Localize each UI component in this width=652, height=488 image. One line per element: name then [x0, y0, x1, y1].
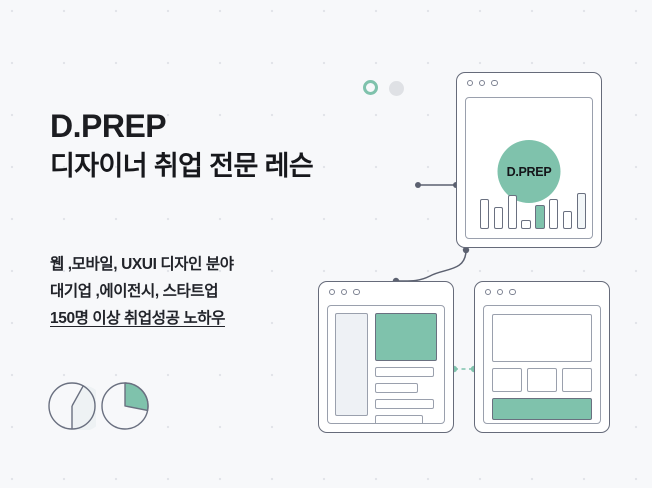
- highlight-bar: [50, 328, 225, 333]
- bar-5: [535, 205, 544, 229]
- hero-copy: D.PREP 디자이너 취업 전문 레슨: [50, 110, 420, 182]
- solid-dot-icon: [389, 81, 404, 96]
- browser-window-logo[interactable]: D.PREP: [456, 72, 602, 248]
- sub-line-2: 대기업 ,에이전시, 스타트업: [50, 279, 350, 306]
- window-titlebar: [319, 282, 453, 302]
- pie-chart-outline: [48, 382, 96, 430]
- bar-6: [549, 199, 558, 229]
- traffic-light-icon[interactable]: [509, 289, 515, 295]
- bar-3: [508, 195, 517, 229]
- bar-7: [563, 211, 572, 229]
- traffic-light-icon[interactable]: [497, 289, 503, 295]
- connector-headline-to-top-window: [415, 182, 459, 188]
- sub-line-3-text: 150명 이상 취업성공 노하우: [50, 310, 225, 327]
- traffic-light-icon[interactable]: [491, 80, 497, 86]
- traffic-light-icon[interactable]: [485, 289, 491, 295]
- traffic-light-icon[interactable]: [341, 289, 347, 295]
- bar-8: [577, 193, 586, 229]
- window-titlebar: [475, 282, 609, 302]
- brand-title: D.PREP: [50, 110, 420, 144]
- sidebar-panel[interactable]: [335, 313, 368, 416]
- traffic-light-icon[interactable]: [353, 289, 359, 295]
- browser-window-layout-b[interactable]: [474, 281, 610, 433]
- card-1[interactable]: [492, 368, 522, 392]
- bar-2: [494, 207, 503, 229]
- sub-line-1: 웹 ,모바일, UXUI 디자인 분야: [50, 252, 350, 279]
- window-content: D.PREP: [465, 97, 593, 239]
- poster-canvas: D.PREP 디자이너 취업 전문 레슨 웹 ,모바일, UXUI 디자인 분야…: [0, 0, 652, 488]
- card-3[interactable]: [562, 368, 592, 392]
- traffic-light-icon[interactable]: [479, 80, 485, 86]
- card-row: [492, 368, 592, 392]
- bar-4: [521, 220, 530, 229]
- window-content: [483, 305, 601, 424]
- traffic-light-icon[interactable]: [467, 80, 473, 86]
- content-bar-4: [375, 415, 423, 424]
- window-titlebar: [457, 73, 601, 93]
- bar-1: [480, 199, 489, 229]
- hero-subtext: 웹 ,모바일, UXUI 디자인 분야 대기업 ,에이전시, 스타트업 150명…: [50, 252, 350, 333]
- sub-line-3-highlighted: 150명 이상 취업성공 노하우: [50, 306, 225, 333]
- content-bar-3: [375, 399, 434, 409]
- traffic-light-icon[interactable]: [329, 289, 335, 295]
- card-2[interactable]: [527, 368, 557, 392]
- content-bar-1: [375, 367, 434, 377]
- content-hero-box: [492, 314, 592, 362]
- logo-badge-label: D.PREP: [507, 165, 552, 179]
- ring-dot-icon: [363, 80, 378, 95]
- page-title: 디자이너 취업 전문 레슨: [50, 150, 420, 182]
- connector-top-window-to-left-window: [393, 247, 469, 284]
- pie-chart-accent: [101, 382, 149, 430]
- window-content: [327, 305, 445, 424]
- bar-chart: [480, 187, 586, 229]
- cta-bar[interactable]: [492, 398, 592, 420]
- content-bar-2: [375, 383, 418, 393]
- hero-image-block: [375, 313, 437, 361]
- browser-window-layout-a[interactable]: [318, 281, 454, 433]
